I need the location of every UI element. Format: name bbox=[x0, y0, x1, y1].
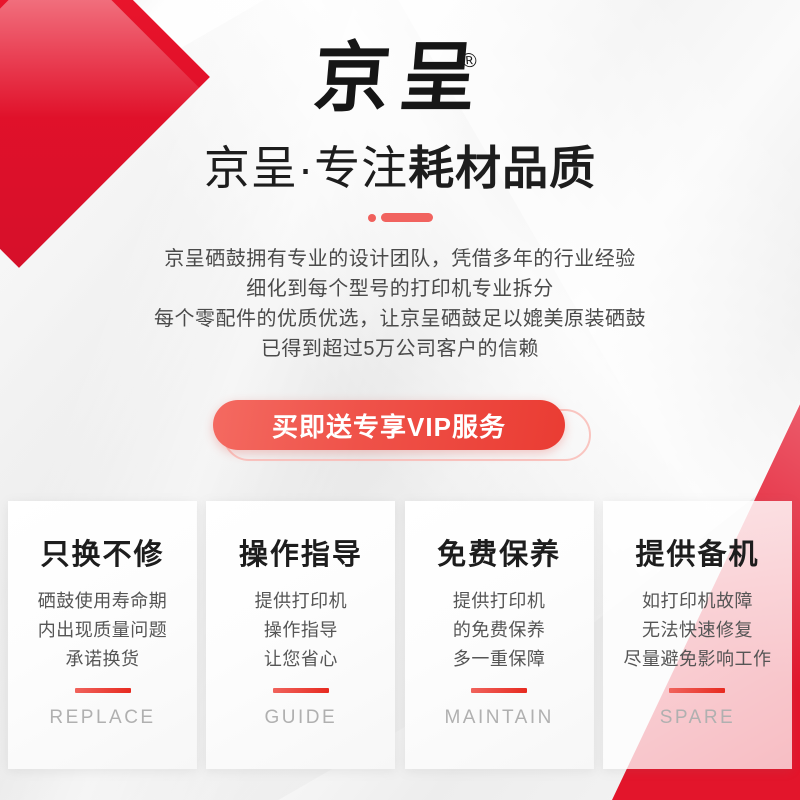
headline-lead: 京呈·专注 bbox=[204, 142, 408, 194]
underline-bar bbox=[381, 213, 433, 222]
card-divider bbox=[471, 688, 527, 693]
promo-banner: 京呈 ® 京呈·专注耗材品质 京呈硒鼓拥有专业的设计团队，凭借多年的行业经验 细… bbox=[0, 0, 800, 800]
headline-underline bbox=[0, 213, 800, 222]
card-english-label: MAINTAIN bbox=[444, 707, 553, 729]
card-english-label: SPARE bbox=[660, 707, 736, 729]
card-body-line: 内出现质量问题 bbox=[38, 616, 168, 645]
feature-card-list: 只换不修 硒鼓使用寿命期 内出现质量问题 承诺换货 REPLACE 操作指导 提… bbox=[8, 501, 792, 769]
headline-emphasis: 耗材品质 bbox=[408, 142, 596, 194]
card-title: 提供备机 bbox=[635, 531, 759, 573]
card-divider bbox=[273, 688, 329, 693]
card-body-line: 的免费保养 bbox=[453, 616, 546, 645]
card-body-line: 硒鼓使用寿命期 bbox=[38, 587, 168, 616]
card-english-label: GUIDE bbox=[264, 707, 337, 729]
headline: 京呈·专注耗材品质 bbox=[0, 144, 800, 192]
card-body-line: 承诺换货 bbox=[38, 645, 168, 674]
card-divider bbox=[75, 688, 131, 693]
card-body-line: 尽量避免影响工作 bbox=[623, 645, 771, 674]
feature-card-guide[interactable]: 操作指导 提供打印机 操作指导 让您省心 GUIDE bbox=[206, 501, 395, 769]
card-body: 硒鼓使用寿命期 内出现质量问题 承诺换货 bbox=[38, 587, 168, 674]
promo-badge-wrap: 买即送专享VIP服务 bbox=[0, 400, 800, 458]
promo-badge[interactable]: 买即送专享VIP服务 bbox=[213, 400, 565, 450]
paragraph-line: 已得到超过5万公司客户的信赖 bbox=[0, 334, 800, 364]
paragraph-line: 京呈硒鼓拥有专业的设计团队，凭借多年的行业经验 bbox=[0, 244, 800, 274]
card-body-line: 如打印机故障 bbox=[623, 587, 771, 616]
card-body-line: 多一重保障 bbox=[453, 645, 546, 674]
card-english-label: REPLACE bbox=[49, 707, 155, 729]
card-body: 提供打印机 操作指导 让您省心 bbox=[255, 587, 348, 674]
card-body-line: 提供打印机 bbox=[453, 587, 546, 616]
card-body: 提供打印机 的免费保养 多一重保障 bbox=[453, 587, 546, 674]
card-title: 只换不修 bbox=[40, 531, 164, 573]
brand-logo: 京呈 ® bbox=[0, 24, 800, 134]
paragraph-line: 每个零配件的优质优选，让京呈硒鼓足以媲美原装硒鼓 bbox=[0, 304, 800, 334]
registered-trademark-icon: ® bbox=[461, 50, 800, 73]
card-body-line: 提供打印机 bbox=[255, 587, 348, 616]
paragraph-line: 细化到每个型号的打印机专业拆分 bbox=[0, 274, 800, 304]
card-divider bbox=[669, 688, 725, 693]
card-body-line: 操作指导 bbox=[255, 616, 348, 645]
card-body-line: 让您省心 bbox=[255, 645, 348, 674]
feature-card-maintain[interactable]: 免费保养 提供打印机 的免费保养 多一重保障 MAINTAIN bbox=[405, 501, 594, 769]
card-title: 免费保养 bbox=[437, 531, 561, 573]
feature-card-replace[interactable]: 只换不修 硒鼓使用寿命期 内出现质量问题 承诺换货 REPLACE bbox=[8, 501, 197, 769]
card-title: 操作指导 bbox=[239, 531, 363, 573]
card-body-line: 无法快速修复 bbox=[623, 616, 771, 645]
underline-dot bbox=[368, 214, 376, 222]
description-paragraph: 京呈硒鼓拥有专业的设计团队，凭借多年的行业经验 细化到每个型号的打印机专业拆分 … bbox=[0, 244, 800, 364]
feature-card-spare[interactable]: 提供备机 如打印机故障 无法快速修复 尽量避免影响工作 SPARE bbox=[603, 501, 792, 769]
card-body: 如打印机故障 无法快速修复 尽量避免影响工作 bbox=[623, 587, 771, 674]
